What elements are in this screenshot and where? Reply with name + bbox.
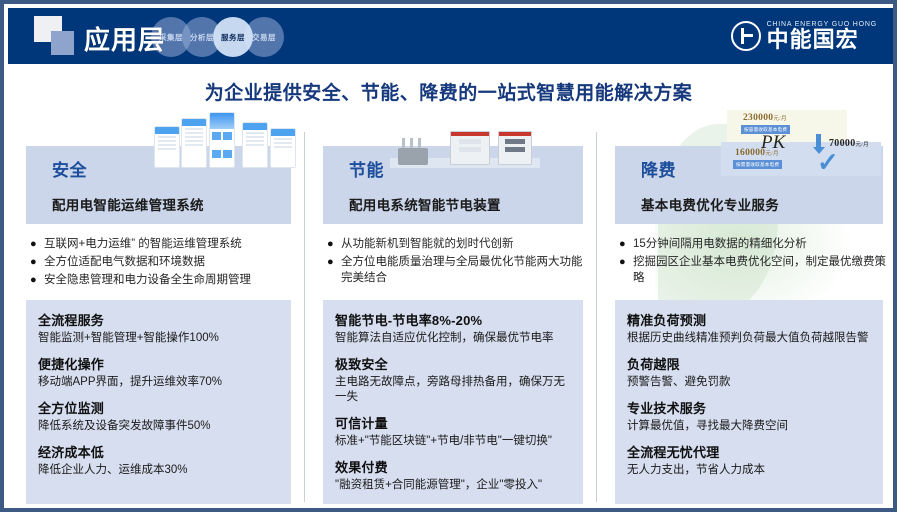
phone-mockup: [181, 118, 207, 168]
header-title: 应用层: [84, 20, 165, 57]
list-item: ●15分钟间隔用电数据的精细化分析: [619, 236, 887, 252]
list-item: ●从功能新机到智能就的划时代创新: [327, 236, 587, 252]
down-arrow-icon: [816, 134, 821, 148]
detail-item: 全方位监测降低系统及设备突发故障事件50%: [38, 398, 279, 434]
detail-title: 极致安全: [335, 354, 571, 373]
detail-desc: 智能监测+智能管理+智能操作100%: [38, 331, 279, 346]
venn-label-service: 服务层: [221, 32, 245, 43]
detail-title: 效果付费: [335, 457, 571, 476]
column-subheading: 配用电智能运维管理系统: [52, 194, 291, 214]
bullet-text: 从功能新机到智能就的划时代创新: [341, 236, 587, 252]
phone-screenshots-art: [154, 116, 302, 174]
bullet-list-saving: ●从功能新机到智能就的划时代创新 ●全方位电能质量治理与全局最优化节能两大功能完…: [327, 236, 587, 288]
bullet-text: 安全隐患管理和电力设备全生命周期管理: [44, 272, 295, 288]
phone-mockup: [270, 128, 296, 168]
detail-title: 负荷越限: [627, 354, 871, 373]
pk-unit-before: 元/月: [773, 116, 786, 122]
bullet-text: 15分钟间隔用电数据的精细化分析: [633, 236, 887, 252]
detail-desc: "融资租赁+合同能源管理"，企业"零投入": [335, 478, 571, 493]
detail-desc: 预警告警、避免罚款: [627, 375, 871, 390]
phone-mockup: [209, 112, 235, 168]
pk-value-before: 230000元/月: [743, 113, 787, 123]
column-safety: 安全 配用电智能运维管理系统 ●互联网+电力运维” 的智能运维管理系统 ●全方位…: [8, 114, 305, 512]
checkmark-icon: ✓: [817, 152, 833, 172]
pk-saving-unit: 元/月: [856, 142, 869, 148]
hero-art-equipment: [305, 114, 597, 176]
detail-title: 可信计量: [335, 413, 571, 432]
transformer-icon: [394, 135, 434, 165]
header-logo-squares: [34, 16, 80, 58]
equipment-art: [390, 116, 540, 174]
slide-canvas: 采集层 分析层 交易层 服务层 应用层 CHINA ENERGY GUO HON…: [0, 0, 897, 512]
detail-desc: 降低系统及设备突发故障事件50%: [38, 419, 279, 434]
bullet-list-safety: ●互联网+电力运维” 的智能运维管理系统 ●全方位适配电气数据和环境数据 ●安全…: [30, 236, 295, 290]
detail-desc: 根据历史曲线精准预判负荷最大值负荷越限告警: [627, 331, 871, 346]
list-item: ●全方位适配电气数据和环境数据: [30, 254, 295, 270]
detail-item: 经济成本低降低企业人力、运维成本30%: [38, 442, 279, 478]
column-subheading: 配用电系统智能节电装置: [349, 194, 583, 214]
bullet-text: 全方位电能质量治理与全局最优化节能两大功能完美结合: [341, 254, 587, 286]
list-item: ●互联网+电力运维” 的智能运维管理系统: [30, 236, 295, 252]
venn-label-trade: 交易层: [252, 32, 276, 43]
pk-value-after-number: 160000: [735, 148, 765, 158]
hero-art-phones: [8, 114, 305, 176]
list-item: ●安全隐患管理和电力设备全生命周期管理: [30, 272, 295, 288]
pk-tag-after: 按需量收取基本电费: [733, 160, 782, 169]
pk-unit-after: 元/月: [765, 151, 778, 157]
bullet-dot-icon: ●: [30, 272, 44, 288]
bullet-dot-icon: ●: [327, 236, 341, 252]
detail-title: 全流程无忧代理: [627, 442, 871, 461]
pk-value-after: 160000元/月: [735, 148, 779, 158]
pk-value-before-number: 230000: [743, 113, 773, 123]
column-subheading: 基本电费优化专业服务: [641, 194, 883, 214]
detail-desc: 无人力支出，节省人力成本: [627, 463, 871, 478]
bullet-dot-icon: ●: [327, 254, 341, 286]
detail-title: 智能节电-节电率8%-20%: [335, 310, 571, 329]
phone-mockup: [154, 126, 180, 168]
detail-desc: 主电路无故障点，旁路母排热备用，确保万无一失: [335, 375, 571, 405]
bullet-dot-icon: ●: [619, 254, 633, 286]
detail-item: 智能节电-节电率8%-20%智能算法自适应优化控制，确保最优节电率: [335, 310, 571, 346]
detail-item: 全流程无忧代理无人力支出，节省人力成本: [627, 442, 871, 478]
detail-desc: 标准+"节能区块链"+节电/非节电"一键切换": [335, 434, 571, 449]
logo-emblem-icon: [731, 21, 761, 51]
detail-item: 精准负荷预测根据历史曲线精准预判负荷最大值负荷越限告警: [627, 310, 871, 346]
bullet-list-cost: ●15分钟间隔用电数据的精细化分析 ●挖掘园区企业基本电费优化空间，制定最优缴费…: [619, 236, 887, 288]
detail-item: 可信计量标准+"节能区块链"+节电/非节电"一键切换": [335, 413, 571, 449]
detail-item: 极致安全主电路无故障点，旁路母排热备用，确保万无一失: [335, 354, 571, 405]
bullet-text: 互联网+电力运维” 的智能运维管理系统: [44, 236, 295, 252]
cabinet-icon: [450, 131, 490, 165]
column-energy-saving: 节能 配用电系统智能节电装置 ●从功能新机到智能就的划时代创新 ●全方位电能质量…: [305, 114, 597, 512]
page-title: 为企业提供安全、节能、降费的一站式智慧用能解决方案: [4, 78, 893, 105]
detail-title: 经济成本低: [38, 442, 279, 461]
bullet-dot-icon: ●: [30, 236, 44, 252]
detail-item: 便捷化操作移动端APP界面，提升运维效率70%: [38, 354, 279, 390]
detail-title: 全流程服务: [38, 310, 279, 329]
list-item: ●全方位电能质量治理与全局最优化节能两大功能完美结合: [327, 254, 587, 286]
detail-title: 全方位监测: [38, 398, 279, 417]
pk-comparison-chart: 230000元/月 按容量收取基本电费 PK 160000元/月 按需量收取基本…: [721, 110, 889, 178]
hero-art-pk-chart: 230000元/月 按容量收取基本电费 PK 160000元/月 按需量收取基本…: [597, 114, 897, 176]
detail-item: 专业技术服务计算最优值，寻找最大降费空间: [627, 398, 871, 434]
detail-desc: 降低企业人力、运维成本30%: [38, 463, 279, 478]
bullet-dot-icon: ●: [30, 254, 44, 270]
list-item: ●挖掘园区企业基本电费优化空间，制定最优缴费策略: [619, 254, 887, 286]
venn-label-analysis: 分析层: [190, 32, 214, 43]
layer-venn-diagram: 采集层 分析层 交易层 服务层: [151, 17, 301, 57]
detail-panel-saving: 智能节电-节电率8%-20%智能算法自适应优化控制，确保最优节电率 极致安全主电…: [323, 300, 583, 504]
detail-title: 便捷化操作: [38, 354, 279, 373]
detail-desc: 智能算法自适应优化控制，确保最优节电率: [335, 331, 571, 346]
detail-title: 精准负荷预测: [627, 310, 871, 329]
detail-panel-cost: 精准负荷预测根据历史曲线精准预判负荷最大值负荷越限告警 负荷越限预警告警、避免罚…: [615, 300, 883, 504]
detail-title: 专业技术服务: [627, 398, 871, 417]
bullet-text: 挖掘园区企业基本电费优化空间，制定最优缴费策略: [633, 254, 887, 286]
detail-desc: 计算最优值，寻找最大降费空间: [627, 419, 871, 434]
venn-circle-service[interactable]: 服务层: [213, 17, 253, 57]
column-cost-reduction: 230000元/月 按容量收取基本电费 PK 160000元/月 按需量收取基本…: [597, 114, 897, 512]
company-logo: CHINA ENERGY GUO HONG 中能国宏: [731, 18, 877, 54]
logo-chinese-name: 中能国宏: [767, 29, 877, 51]
square-blue: [51, 31, 74, 55]
detail-panel-safety: 全流程服务智能监测+智能管理+智能操作100% 便捷化操作移动端APP界面，提升…: [26, 300, 291, 504]
detail-item: 效果付费"融资租赁+合同能源管理"，企业"零投入": [335, 457, 571, 493]
cabinet-icon: [498, 131, 532, 165]
phone-mockup: [242, 122, 268, 168]
detail-item: 全流程服务智能监测+智能管理+智能操作100%: [38, 310, 279, 346]
detail-item: 负荷越限预警告警、避免罚款: [627, 354, 871, 390]
bullet-dot-icon: ●: [619, 236, 633, 252]
slide-header: 采集层 分析层 交易层 服务层 应用层 CHINA ENERGY GUO HON…: [8, 8, 897, 64]
feature-columns: 安全 配用电智能运维管理系统 ●互联网+电力运维” 的智能运维管理系统 ●全方位…: [8, 114, 897, 512]
bullet-text: 全方位适配电气数据和环境数据: [44, 254, 295, 270]
detail-desc: 移动端APP界面，提升运维效率70%: [38, 375, 279, 390]
